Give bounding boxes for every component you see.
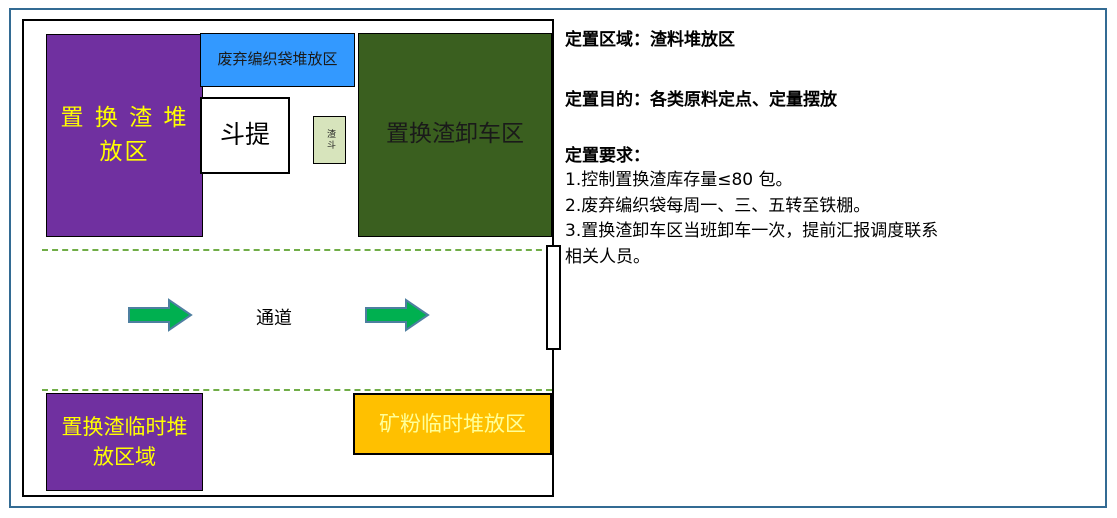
info-purpose-line: 定置目的：各类原料定点、定量摆放 <box>565 88 1085 112</box>
corridor-gate[interactable] <box>546 245 561 350</box>
corridor-arrow-right-icon-2 <box>364 298 430 332</box>
info-requirement-item-3-continued: 相关人员。 <box>565 245 1085 271</box>
zone-slag-storage[interactable]: 置 换 渣 堆 放区 <box>46 34 203 237</box>
info-requirement-item-2: 2.废弃编织袋每周一、三、五转至铁棚。 <box>565 194 1085 220</box>
corridor-label: 通道 <box>229 304 319 330</box>
spacer-1 <box>565 52 1085 88</box>
info-requirement-item-3: 3.置换渣卸车区当班卸车一次，提前汇报调度联系 <box>565 219 1085 245</box>
zone-bucket-elevator[interactable]: 斗提 <box>200 97 290 174</box>
corridor-divider-bottom <box>42 389 552 391</box>
info-panel: 定置区域：渣料堆放区 定置目的：各类原料定点、定量摆放 定置要求： 1.控制置换… <box>565 28 1085 270</box>
zone-slag-hopper[interactable]: 渣斗 <box>313 116 346 164</box>
corridor-divider-top <box>42 249 552 251</box>
corridor-arrow-right-icon <box>127 298 193 332</box>
zone-ore-powder-temp[interactable]: 矿粉临时堆放区 <box>353 393 552 455</box>
info-requirements-title: 定置要求： <box>565 144 1085 168</box>
layout-management-board: 置 换 渣 堆 放区 废弃编织袋堆放区 斗提 渣斗 置换渣卸车区 通道 置换渣临… <box>0 0 1117 518</box>
info-requirement-item-1: 1.控制置换渣库存量≤80 包。 <box>565 168 1085 194</box>
zone-slag-unloading[interactable]: 置换渣卸车区 <box>358 33 552 237</box>
spacer-2 <box>565 112 1085 144</box>
site-layout-diagram: 置 换 渣 堆 放区 废弃编织袋堆放区 斗提 渣斗 置换渣卸车区 通道 置换渣临… <box>22 19 554 497</box>
zone-slag-temp-storage[interactable]: 置换渣临时堆放区域 <box>46 393 203 491</box>
zone-waste-woven-bag[interactable]: 废弃编织袋堆放区 <box>200 33 355 87</box>
info-area-line: 定置区域：渣料堆放区 <box>565 28 1085 52</box>
